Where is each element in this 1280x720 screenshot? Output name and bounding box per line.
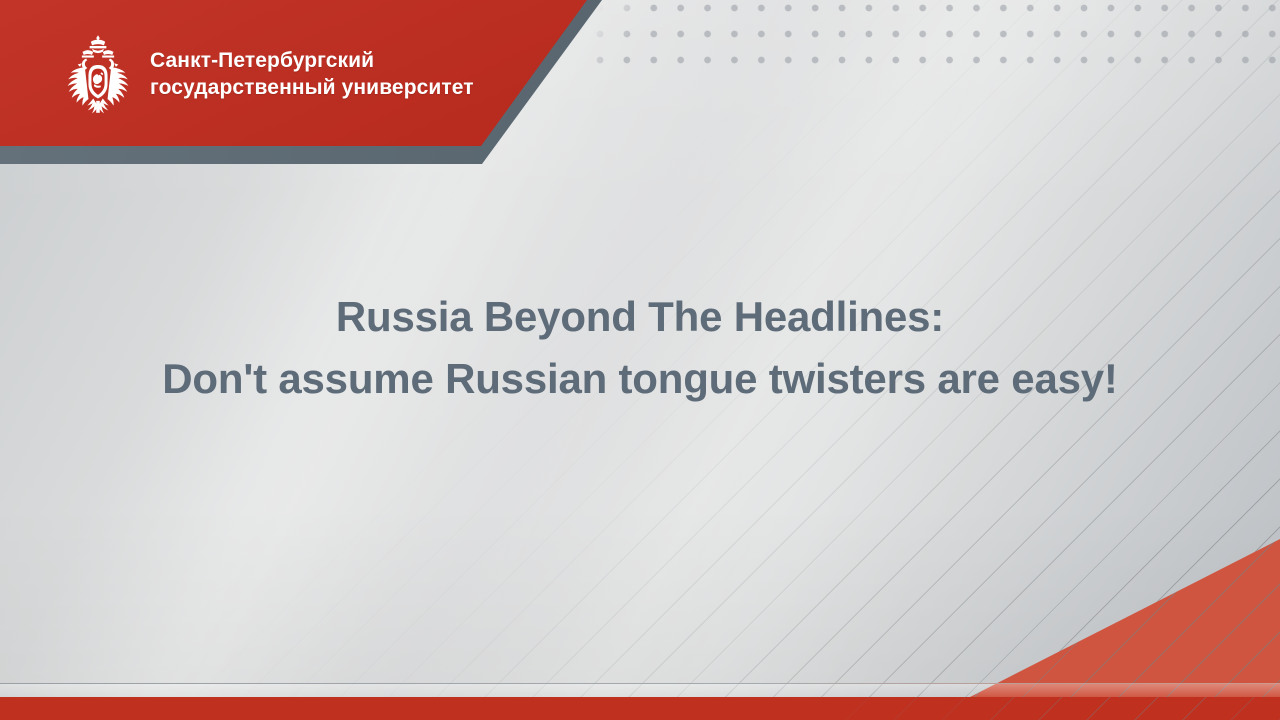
- footer-divider-line: [0, 683, 1280, 684]
- footer-highlight-band: [0, 684, 1280, 697]
- presentation-slide: Санкт-Петербургский государственный унив…: [0, 0, 1280, 720]
- double-headed-eagle-crest-icon: [62, 34, 134, 114]
- footer-red-bar: [0, 697, 1280, 720]
- university-name: Санкт-Петербургский государственный унив…: [150, 47, 474, 102]
- dot-matrix-pattern: [596, 0, 1280, 72]
- slide-title-line-2: Don't assume Russian tongue twisters are…: [0, 348, 1280, 410]
- footer-bar-hairlines: [0, 697, 1280, 720]
- slide-title: Russia Beyond The Headlines: Don't assum…: [0, 286, 1280, 409]
- slide-title-line-1: Russia Beyond The Headlines:: [0, 286, 1280, 348]
- university-logo-lockup: Санкт-Петербургский государственный унив…: [62, 34, 474, 114]
